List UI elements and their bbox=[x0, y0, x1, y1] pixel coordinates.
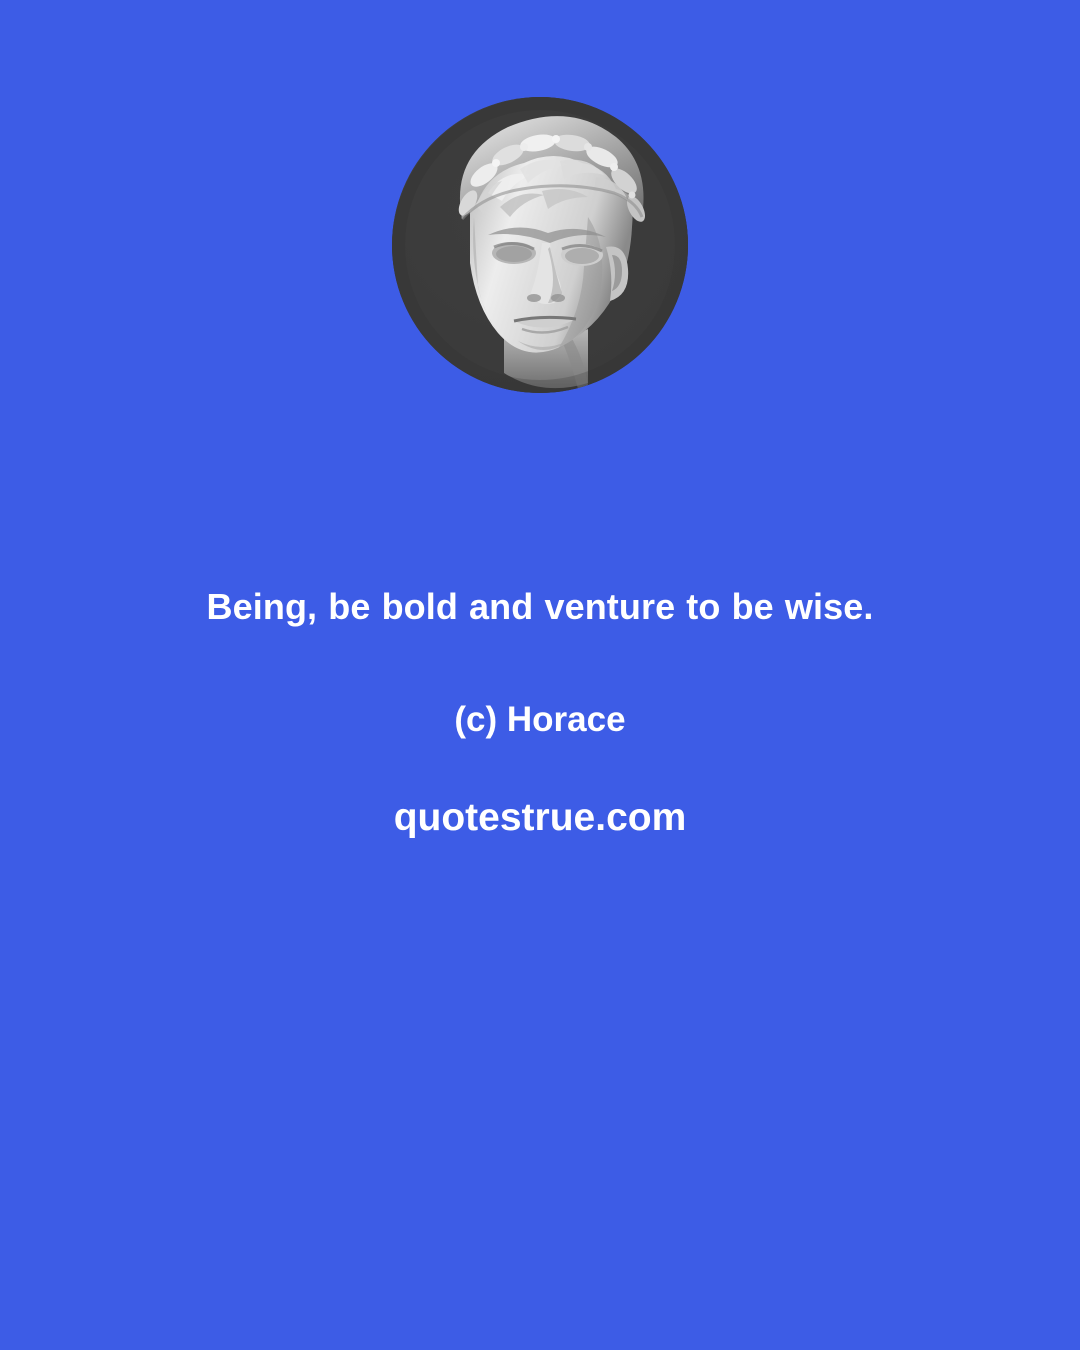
quote-attribution: (c) Horace bbox=[90, 698, 990, 742]
site-watermark: quotestrue.com bbox=[90, 794, 990, 842]
roman-bust-portrait-icon bbox=[392, 97, 688, 393]
quote-text-block: Being, be bold and venture to be wise. (… bbox=[0, 560, 1080, 842]
roman-bust-illustration bbox=[392, 97, 688, 393]
quote-text: Being, be bold and venture to be wise. bbox=[140, 560, 940, 654]
quote-card: Being, be bold and venture to be wise. (… bbox=[0, 0, 1080, 1350]
